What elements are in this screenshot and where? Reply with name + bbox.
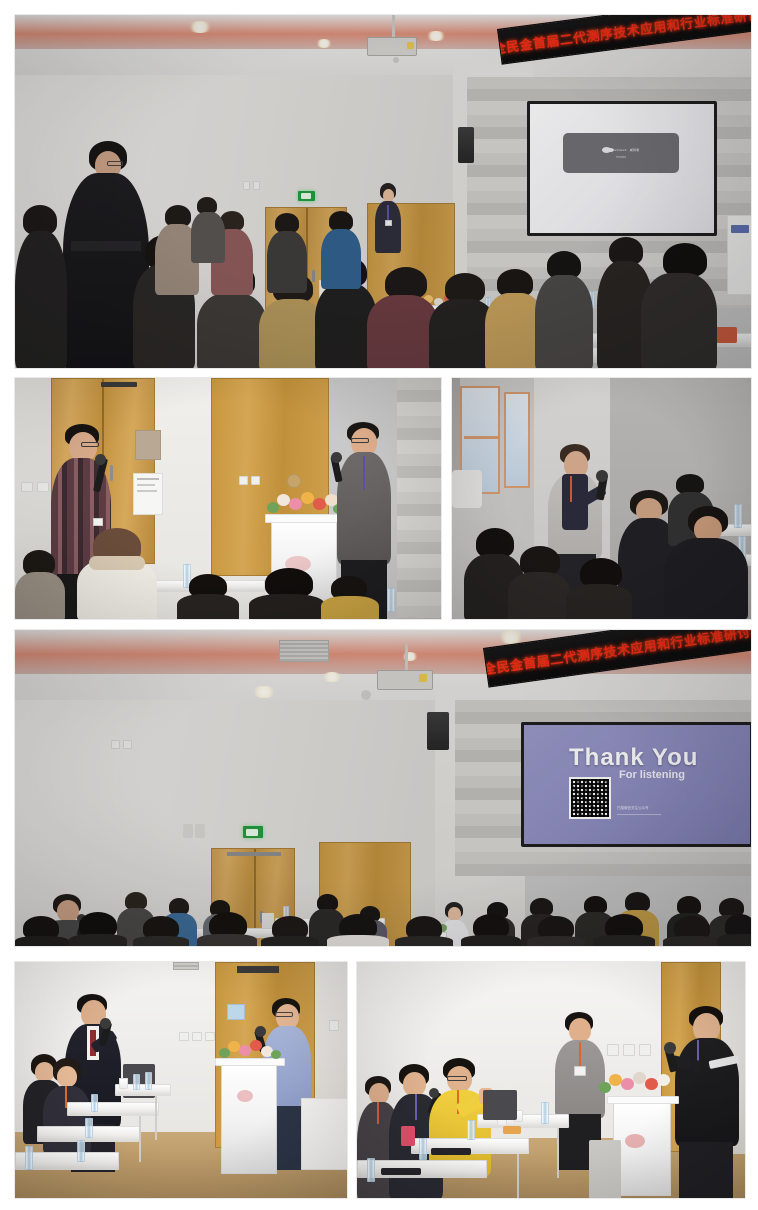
water-bottle xyxy=(387,588,395,612)
audience-member xyxy=(133,916,189,946)
wall-outlet xyxy=(329,1020,339,1031)
air-vent xyxy=(279,640,329,662)
audience-member xyxy=(15,550,65,619)
water-bottle xyxy=(145,1072,152,1090)
audience-member xyxy=(566,558,632,619)
wall-outlet xyxy=(21,482,33,492)
audience-member xyxy=(69,912,127,946)
wall-speaker xyxy=(427,712,449,750)
slide-logo-word-cn: 威特希 xyxy=(630,148,640,152)
water-bottle xyxy=(419,1138,427,1160)
paper-cup xyxy=(119,1078,128,1089)
chair xyxy=(483,1090,517,1120)
gallery-row-4 xyxy=(14,961,752,1199)
gallery-row-1: 全民金首届二代测序技术应用和行业标准研讨会 whitech 威特希 THANKS xyxy=(14,14,752,369)
panel-table xyxy=(357,1160,487,1178)
audience-member xyxy=(15,916,69,946)
audience-member xyxy=(395,916,453,946)
badge xyxy=(574,1066,586,1076)
photo-3[interactable] xyxy=(451,377,752,620)
wall-outlet xyxy=(607,1044,619,1056)
audience-member xyxy=(593,914,655,946)
podium xyxy=(221,1062,277,1174)
wall-outlet xyxy=(239,476,248,485)
audience-member xyxy=(321,211,361,289)
microphone xyxy=(596,470,608,482)
slide-subtitle: For listening xyxy=(619,769,685,781)
water-bottle xyxy=(77,1140,85,1162)
gallery-row-3: 全民金首届二代测序技术应用和行业标准研讨会 Thank You For list… xyxy=(14,629,752,947)
water-bottle xyxy=(91,1094,98,1112)
audience-member xyxy=(327,914,389,946)
host-speaker xyxy=(373,183,403,253)
flower-arrangement xyxy=(265,490,347,518)
wall-outlet xyxy=(205,1032,215,1041)
wall-outlet xyxy=(623,1044,635,1056)
slide-logo-word: whitech xyxy=(614,148,626,152)
podium xyxy=(613,1100,671,1196)
microphone xyxy=(95,454,106,465)
audience-member xyxy=(461,914,521,946)
audience-member xyxy=(664,506,748,619)
wall-outlet xyxy=(123,740,132,749)
microphone xyxy=(331,452,342,463)
photo-2[interactable] xyxy=(14,377,442,620)
wall-outlet xyxy=(192,1032,202,1041)
ceiling-light-icon xyxy=(425,31,447,41)
chair xyxy=(589,1140,621,1198)
brand-logo-icon xyxy=(602,147,611,153)
audience-member xyxy=(267,213,307,293)
wall-speaker xyxy=(458,127,474,163)
lanyard xyxy=(377,1102,379,1124)
audience-member xyxy=(15,205,67,368)
lanyard xyxy=(363,456,365,490)
wall-outlet xyxy=(179,1032,189,1041)
qr-caption: 扫描微信关注公众号 xyxy=(617,806,649,811)
audience-member xyxy=(191,197,225,263)
photo-5[interactable] xyxy=(14,961,348,1199)
lanyard xyxy=(570,476,572,502)
speaker-with-microphone xyxy=(675,1006,739,1198)
wall-outlet xyxy=(243,181,250,190)
water-bottle xyxy=(467,1120,475,1140)
microphone xyxy=(664,1042,676,1054)
flower-arrangement xyxy=(217,1038,283,1062)
microphone xyxy=(255,1026,266,1037)
wall-outlet xyxy=(253,181,260,190)
audience-member xyxy=(527,916,585,946)
wall-outlet xyxy=(251,476,260,485)
ceiling-light-icon xyxy=(251,686,277,698)
ceiling-light-icon xyxy=(315,39,333,48)
ceiling-light-icon xyxy=(321,672,343,682)
slide-subtitle: THANKS xyxy=(616,156,626,159)
air-vent xyxy=(173,962,199,970)
panel-table xyxy=(67,1102,159,1116)
audience-member xyxy=(177,574,239,619)
gallery-row-2 xyxy=(14,377,752,620)
audience-member xyxy=(717,914,751,946)
photo-4[interactable]: 全民金首届二代测序技术应用和行业标准研讨会 Thank You For list… xyxy=(14,629,752,947)
qr-code xyxy=(569,777,611,819)
lanyard xyxy=(579,1042,581,1066)
lanyard xyxy=(415,1094,417,1120)
wall-outlet xyxy=(639,1044,651,1056)
water-bottle xyxy=(85,1118,93,1138)
flower-arrangement xyxy=(597,1070,677,1098)
window xyxy=(504,392,530,488)
water-bottle xyxy=(367,1158,375,1182)
wall-outlet xyxy=(37,482,49,492)
slide-title: Thank You xyxy=(569,744,698,772)
ceiling-light-icon xyxy=(187,21,213,33)
water-bottle xyxy=(25,1146,33,1170)
slide-logo-card: whitech 威特希 THANKS xyxy=(563,133,679,173)
audience-member xyxy=(261,916,319,946)
ceiling-light-icon xyxy=(401,652,419,661)
projection-screen: whitech 威特希 THANKS xyxy=(527,101,717,236)
projection-screen: Thank You For listening 扫描微信关注公众号 xyxy=(521,722,751,847)
audience-member xyxy=(641,243,717,368)
photo-gallery: 全民金首届二代测序技术应用和行业标准研讨会 whitech 威特希 THANKS xyxy=(0,0,758,1210)
water-bottle xyxy=(541,1102,549,1124)
photo-6[interactable] xyxy=(356,961,746,1199)
audience-member xyxy=(508,546,570,619)
microphone xyxy=(100,1018,111,1029)
audience-member xyxy=(249,568,325,619)
audience-member xyxy=(663,916,721,946)
badge xyxy=(93,518,103,526)
wall-outlet xyxy=(111,740,120,749)
audience-member xyxy=(197,912,257,946)
audience-member xyxy=(321,576,379,619)
water-bottle xyxy=(133,1074,140,1090)
photo-1[interactable]: 全民金首届二代测序技术应用和行业标准研讨会 whitech 威特希 THANKS xyxy=(14,14,752,369)
audience-member xyxy=(77,528,157,619)
audience-member xyxy=(535,251,593,368)
